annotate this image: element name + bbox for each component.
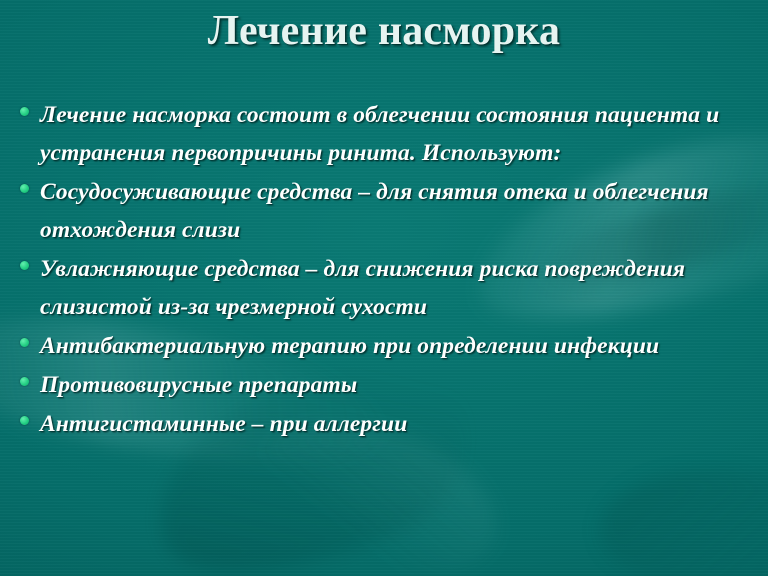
list-item: Противовирусные препараты bbox=[0, 366, 768, 404]
bullet-dot-icon bbox=[8, 366, 40, 386]
list-item-text: Противовирусные препараты bbox=[40, 366, 760, 404]
list-item-text: Антигистаминные – при аллергии bbox=[40, 405, 760, 443]
list-item-text: Сосудосуживающие средства – для снятия о… bbox=[40, 173, 760, 249]
list-item: Увлажняющие средства – для снижения риск… bbox=[0, 250, 768, 326]
list-item-text: Увлажняющие средства – для снижения риск… bbox=[40, 250, 760, 326]
bullet-dot-icon bbox=[8, 327, 40, 347]
list-item-text: Лечение насморка состоит в облегчении со… bbox=[40, 96, 760, 172]
list-item: Антигистаминные – при аллергии bbox=[0, 405, 768, 443]
bullet-dot-icon bbox=[8, 96, 40, 116]
bullet-dot-icon bbox=[8, 173, 40, 193]
slide-title: Лечение насморка bbox=[0, 8, 768, 54]
list-item-text: Антибактериальную терапию при определени… bbox=[40, 327, 760, 365]
presentation-slide: Лечение насморка Лечение насморка состои… bbox=[0, 0, 768, 576]
list-item: Лечение насморка состоит в облегчении со… bbox=[0, 96, 768, 172]
bullet-dot-icon bbox=[8, 250, 40, 270]
list-item: Антибактериальную терапию при определени… bbox=[0, 327, 768, 365]
slide-bullet-list: Лечение насморка состоит в облегчении со… bbox=[0, 96, 768, 444]
list-item: Сосудосуживающие средства – для снятия о… bbox=[0, 173, 768, 249]
bullet-dot-icon bbox=[8, 405, 40, 425]
